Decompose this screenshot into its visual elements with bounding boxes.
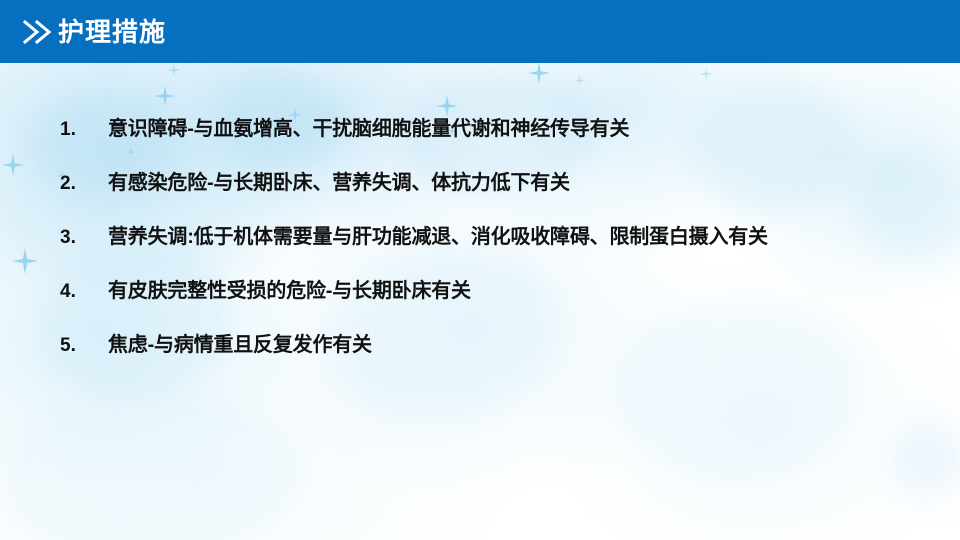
slide-header: 护理措施 (0, 0, 960, 63)
sparkle-icon (155, 86, 175, 106)
nursing-measures-list: 1. 意识障碍-与血氨增高、干扰脑细胞能量代谢和神经传导有关 2. 有感染危险-… (0, 112, 960, 382)
list-item: 2. 有感染危险-与长期卧床、营养失调、体抗力低下有关 (0, 166, 960, 220)
list-item-number: 1. (60, 119, 108, 141)
list-item-text: 有皮肤完整性受损的危险-与长期卧床有关 (108, 274, 471, 303)
list-item-number: 5. (60, 335, 108, 357)
list-item-text: 营养失调:低于机体需要量与肝功能减退、消化吸收障碍、限制蛋白摄入有关 (108, 220, 768, 249)
slide-canvas: 护理措施 1. 意识障碍-与血氨增高、干扰脑细胞能量代谢和神经传导有关 2. 有… (0, 0, 960, 540)
list-item-number: 2. (60, 173, 108, 195)
list-item-number: 3. (60, 227, 108, 249)
sparkle-icon (168, 64, 180, 76)
list-item: 3. 营养失调:低于机体需要量与肝功能减退、消化吸收障碍、限制蛋白摄入有关 (0, 220, 960, 274)
background-blob (890, 420, 960, 500)
background-streak (0, 400, 300, 540)
list-item-text: 意识障碍-与血氨增高、干扰脑细胞能量代谢和神经传导有关 (108, 112, 629, 141)
list-item-text: 焦虑-与病情重且反复发作有关 (108, 328, 372, 357)
double-chevron-right-icon (20, 17, 54, 47)
sparkle-icon (700, 68, 712, 80)
list-item: 4. 有皮肤完整性受损的危险-与长期卧床有关 (0, 274, 960, 328)
list-item-number: 4. (60, 281, 108, 303)
list-item: 5. 焦虑-与病情重且反复发作有关 (0, 328, 960, 382)
list-item: 1. 意识障碍-与血氨增高、干扰脑细胞能量代谢和神经传导有关 (0, 112, 960, 166)
sparkle-icon (574, 75, 585, 86)
sparkle-icon (528, 62, 550, 84)
page-title: 护理措施 (58, 19, 166, 45)
list-item-text: 有感染危险-与长期卧床、营养失调、体抗力低下有关 (108, 166, 570, 195)
